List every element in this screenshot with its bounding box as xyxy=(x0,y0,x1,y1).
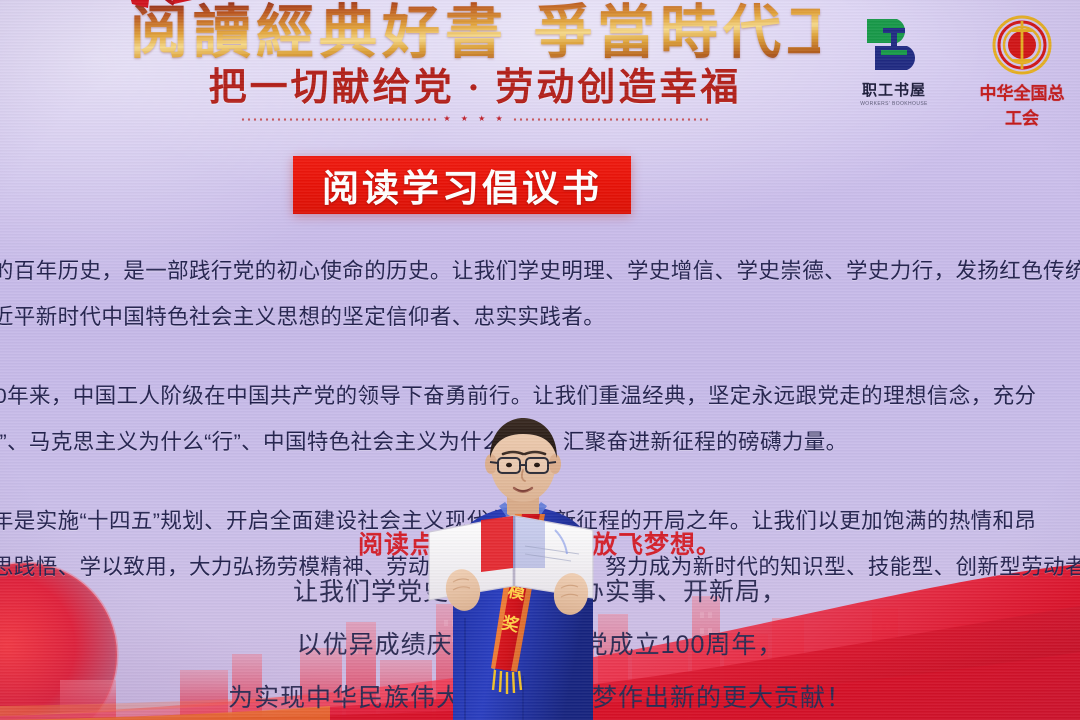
divider-dots-right xyxy=(512,118,710,121)
workers-bookhouse-label-zh: 职工书屋 xyxy=(844,79,944,100)
paragraph-1-line-2: 习近平新时代中国特色社会主义思想的坚定信仰者、忠实实践者。 xyxy=(0,294,1080,340)
paragraph-2-line-1: 100年来，中国工人阶级在中国共产党的领导下奋勇前行。让我们重温经典，坚定永远跟… xyxy=(0,384,1036,408)
document-headline-banner: 阅读学习倡议书 xyxy=(293,156,631,214)
speaker-photo: 劳 模 奖 xyxy=(395,418,645,720)
acftu-label-zh: 中华全国总工会 xyxy=(972,79,1072,129)
red-ribbon-corner-decoration xyxy=(118,0,238,30)
acftu-logo: 中华全国总工会 xyxy=(972,14,1072,129)
workers-bookhouse-label-en: WORKERS' BOOKHOUSE xyxy=(844,101,944,107)
workers-bookhouse-icon xyxy=(844,14,944,76)
led-screen-stage: 阅讀經典好書爭當時代工匠 把一切献给党 · 劳动创造幸福 ★ ★ ★ ★ xyxy=(0,0,1080,720)
divider-stars: ★ ★ ★ ★ xyxy=(438,115,511,123)
workers-bookhouse-logo: 职工书屋 WORKERS' BOOKHOUSE xyxy=(844,14,944,107)
banner-sub-title: 把一切献给党 · 劳动创造幸福 xyxy=(130,66,820,110)
decorative-divider: ★ ★ ★ ★ xyxy=(240,114,710,124)
banner-header: 阅讀經典好書爭當時代工匠 把一切献给党 · 劳动创造幸福 ★ ★ ★ ★ xyxy=(0,0,1080,135)
acftu-icon xyxy=(972,14,1072,76)
divider-dots-left xyxy=(240,118,438,121)
document-headline-text: 阅读学习倡议书 xyxy=(322,158,602,212)
paragraph-1: 党的百年历史，是一部践行党的初心使命的历史。让我们学史明理、学史增信、学史崇德、… xyxy=(0,248,1080,340)
paragraph-1-line-1: 党的百年历史，是一部践行党的初心使命的历史。让我们学史明理、学史增信、学史崇德、… xyxy=(0,259,1080,283)
sponsor-logos: 职工书屋 WORKERS' BOOKHOUSE 中华全国总工会 xyxy=(826,14,1076,132)
